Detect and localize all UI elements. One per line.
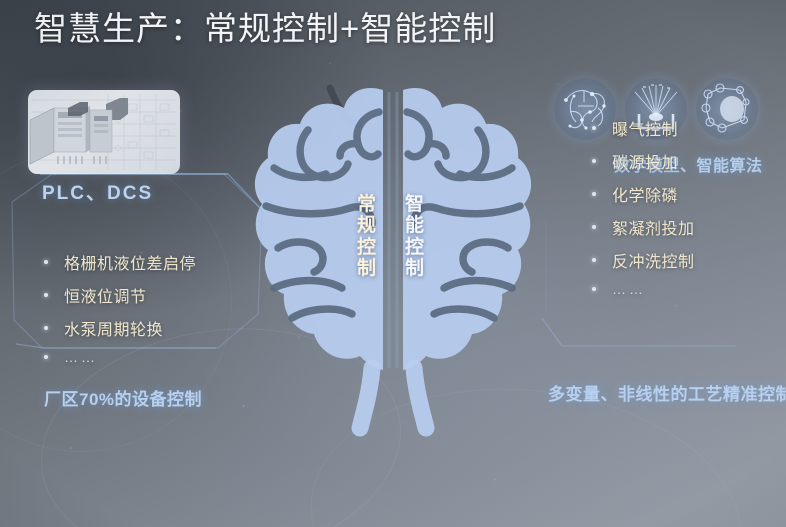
list-item: 反冲洗控制 [592, 248, 695, 272]
intelligent-control-bullet-list: 曝气控制 碳源投加 化学除磷 絮凝剂投加 反冲洗控制 …… [592, 116, 695, 306]
list-item: 恒液位调节 [44, 283, 196, 307]
plc-dcs-hardware-photo [28, 90, 180, 174]
bullet-dot-icon [592, 192, 596, 196]
conventional-control-footer: 厂区70%的设备控制 [44, 385, 202, 410]
list-item: 水泵周期轮换 [44, 316, 196, 340]
list-item-label: …… [612, 281, 646, 297]
list-item-label: 曝气控制 [612, 116, 678, 140]
list-item-label: 化学除磷 [612, 182, 678, 206]
intelligent-control-panel: 数学模型、智能算法 曝气控制 碳源投加 化学除磷 絮凝剂投加 反冲洗控制 [540, 72, 786, 422]
brain-right-char: 智 [404, 194, 426, 215]
brain-left-char: 规 [356, 215, 378, 236]
bullet-dot-icon [44, 260, 48, 264]
list-item-label: 格栅机液位差启停 [64, 250, 196, 274]
brain-left-char: 制 [356, 258, 378, 279]
bullet-dot-icon [592, 126, 596, 130]
brain-left-char: 常 [356, 194, 378, 215]
conventional-control-bullet-list: 格栅机液位差启停 恒液位调节 水泵周期轮换 …… [44, 250, 196, 374]
bullet-dot-icon [44, 355, 48, 359]
list-item: 格栅机液位差启停 [44, 250, 196, 274]
conventional-control-panel: PLC、DCS 格栅机液位差启停 恒液位调节 水泵周期轮换 …… 厂区70%的设… [0, 82, 272, 422]
list-item: 化学除磷 [592, 182, 695, 206]
plc-dcs-caption: PLC、DCS [42, 178, 153, 205]
brain-left-char: 控 [356, 237, 378, 258]
brain-right-char: 制 [404, 258, 426, 279]
list-item-label: 碳源投加 [612, 149, 678, 173]
bullet-dot-icon [592, 258, 596, 262]
presentation-slide: 智慧生产：常规控制+智能控制 [0, 0, 786, 527]
bullet-dot-icon [44, 326, 48, 330]
brain-illustration: 常 规 控 制 智 能 控 制 [252, 82, 534, 442]
plc-modules-icon [28, 90, 180, 174]
brain-svg-icon [252, 82, 534, 442]
list-item-label: …… [64, 349, 98, 365]
brain-right-char: 能 [404, 215, 426, 236]
brain-right-char: 控 [404, 237, 426, 258]
list-item: 曝气控制 [592, 116, 695, 140]
page-title: 智慧生产：常规控制+智能控制 [34, 8, 496, 49]
list-item-label: 反冲洗控制 [612, 248, 695, 272]
brain-right-label: 智 能 控 制 [404, 194, 426, 279]
bullet-dot-icon [592, 287, 596, 291]
list-item-label: 恒液位调节 [64, 283, 147, 307]
bullet-dot-icon [592, 225, 596, 229]
list-item-label: 水泵周期轮换 [64, 316, 163, 340]
brain-left-label: 常 规 控 制 [356, 194, 378, 279]
node-cluster-circle-icon [696, 78, 758, 140]
intelligent-control-footer: 多变量、非线性的工艺精准控制 [548, 380, 786, 405]
node-cluster-glyph [696, 78, 758, 140]
list-item: …… [592, 281, 695, 297]
bullet-dot-icon [44, 293, 48, 297]
list-item: …… [44, 349, 196, 365]
list-item-label: 絮凝剂投加 [612, 215, 695, 239]
list-item: 碳源投加 [592, 149, 695, 173]
list-item: 絮凝剂投加 [592, 215, 695, 239]
bullet-dot-icon [592, 159, 596, 163]
